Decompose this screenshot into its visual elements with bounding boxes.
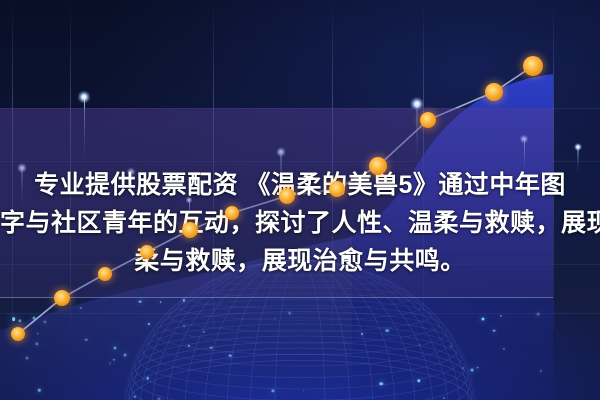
particle-dot [503,348,505,350]
axis-rule [423,0,424,330]
particle-dot [419,344,421,346]
particle-dot [379,382,383,386]
banner-canvas: 专业提供股票配资 《温柔的美兽5》通过中年图 字与社区青年的互动，探讨了人性、温… [0,0,600,400]
particle-dot [38,389,40,391]
particle-dot [482,318,485,321]
star-beam [417,104,418,162]
particle-dot [417,379,420,382]
particle-dot [147,377,150,380]
particle-dot [18,319,21,322]
particle-dot [361,333,363,335]
particle-dot [303,390,304,391]
particle-dot [476,366,479,369]
data-point-marker [140,245,154,259]
particle-dot [203,331,205,333]
data-point-marker [420,112,436,128]
particle-dot [274,319,275,320]
particle-dot [210,347,213,350]
caption-line-2: 字与社区青年的互动，探讨了人性、温柔与救赎，展现 [0,204,600,242]
particle-dot [134,396,136,398]
particle-dot [493,329,496,332]
axis-rule [553,0,554,330]
data-point-marker [11,327,25,341]
data-point-marker [54,290,70,306]
star-beam [84,97,85,163]
particle-dot [471,368,474,371]
data-point-marker [329,181,345,197]
data-point-marker [225,206,239,220]
gridline [0,108,600,109]
particle-dot [80,306,82,308]
particle-dot [272,389,275,392]
particle-dot [443,397,445,399]
axis-rule [213,0,214,330]
particle-dot [160,301,162,303]
glow-star-icon [78,91,91,104]
particle-dot [124,354,127,357]
particle-dot [537,312,540,315]
particle-dot [12,317,16,321]
data-point-marker [485,83,503,101]
particle-dot [451,346,453,348]
glow-star-icon [520,135,529,144]
particle-dot [43,320,46,323]
particle-dot [188,345,190,347]
axis-rule [12,0,13,330]
particle-dot [229,354,232,357]
glow-star-icon [410,97,424,111]
data-point-marker [523,56,543,76]
particle-dot [385,329,389,333]
axis-rule [70,0,71,330]
particle-dot [462,367,464,369]
gridline [0,161,600,162]
data-point-marker [98,267,112,281]
particle-dot [288,312,291,315]
particle-dot [26,357,29,360]
particle-dot [37,333,38,334]
particle-dot [499,315,501,317]
particle-dot [540,370,542,372]
caption-line-1: 专业提供股票配资 《温柔的美兽5》通过中年图 [0,166,600,204]
particle-dot [148,323,150,325]
particle-dot [33,317,36,320]
data-point-marker [182,222,198,238]
glow-star-icon [276,147,286,157]
particle-dot [183,299,185,301]
particle-dot [113,346,116,349]
banner-caption: 专业提供股票配资 《温柔的美兽5》通过中年图 字与社区青年的互动，探讨了人性、温… [0,166,600,280]
particle-dot [109,363,110,364]
caption-line-3: 柔与救赎，展现治愈与共鸣。 [0,242,600,280]
glow-star-icon [574,143,582,151]
data-point-marker [369,157,387,175]
gridline [0,313,600,314]
particle-dot [138,300,141,303]
particle-dot [35,342,38,345]
particle-dot [112,358,115,361]
particle-dot [183,325,185,327]
data-point-marker [279,188,295,204]
axis-rule [332,0,333,330]
particle-dot [85,339,88,342]
